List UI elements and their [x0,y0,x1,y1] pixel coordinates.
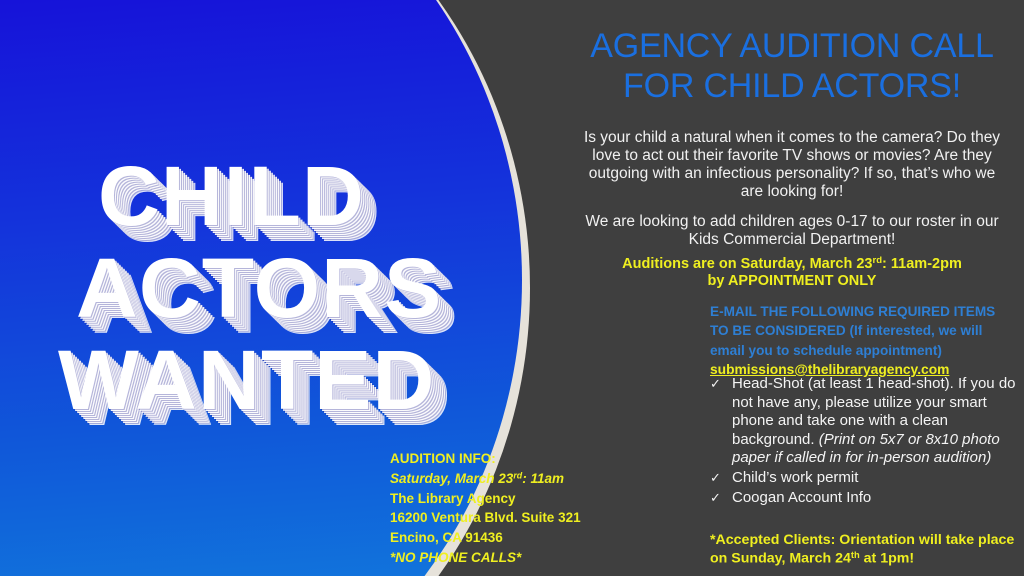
checkmark-icon: ✓ [710,469,732,487]
email-instructions: E-MAIL THE FOLLOWING REQUIRED ITEMS TO B… [710,302,1010,379]
checklist-item-text: Child’s work permit [732,469,1020,488]
headline-line-child: CHILD [98,158,365,235]
auditions-datetime-pre: Auditions are on Saturday, March 23 [622,256,872,272]
auditions-datetime-sup: rd [872,255,882,266]
audition-info-date-post: : 11am [522,471,564,486]
auditions-datetime-post: : 11am-2pm [882,256,962,272]
headline-line-actors: ACTORS [76,250,442,327]
page-title-line2: FOR CHILD ACTORS! [580,66,1004,106]
headline-line-wanted: WANTED [58,342,435,419]
checkmark-icon: ✓ [710,375,732,393]
checklist-item: ✓ Coogan Account Info [710,489,1020,508]
audition-info-date-pre: Saturday, March 23 [390,471,513,486]
email-instructions-text: E-MAIL THE FOLLOWING REQUIRED ITEMS TO B… [710,304,995,358]
checklist-item-text: Coogan Account Info [732,489,1020,508]
accepted-clients-note-post: at 1pm! [860,551,914,567]
accepted-clients-note-sup: th [851,550,860,560]
intro-paragraph: Is your child a natural when it comes to… [582,129,1002,202]
page-title: AGENCY AUDITION CALL FOR CHILD ACTORS! [580,26,1004,106]
accepted-clients-note: *Accepted Clients: Orientation will take… [710,531,1020,569]
right-content-column: AGENCY AUDITION CALL FOR CHILD ACTORS! I… [560,0,1024,576]
checklist-item: ✓ Head-Shot (at least 1 head-shot). If y… [710,375,1020,468]
auditions-datetime: Auditions are on Saturday, March 23rd: 1… [582,255,1002,291]
required-items-checklist: ✓ Head-Shot (at least 1 head-shot). If y… [710,375,1020,508]
checklist-item-text: Head-Shot (at least 1 head-shot). If you… [732,375,1020,468]
auditions-appointment-only: by APPOINTMENT ONLY [582,273,1002,290]
checkmark-icon: ✓ [710,489,732,507]
roster-paragraph: We are looking to add children ages 0-17… [582,213,1002,249]
page-title-line1: AGENCY AUDITION CALL [580,26,1004,66]
checklist-item: ✓ Child’s work permit [710,469,1020,488]
audition-info-date-sup: rd [513,470,522,480]
